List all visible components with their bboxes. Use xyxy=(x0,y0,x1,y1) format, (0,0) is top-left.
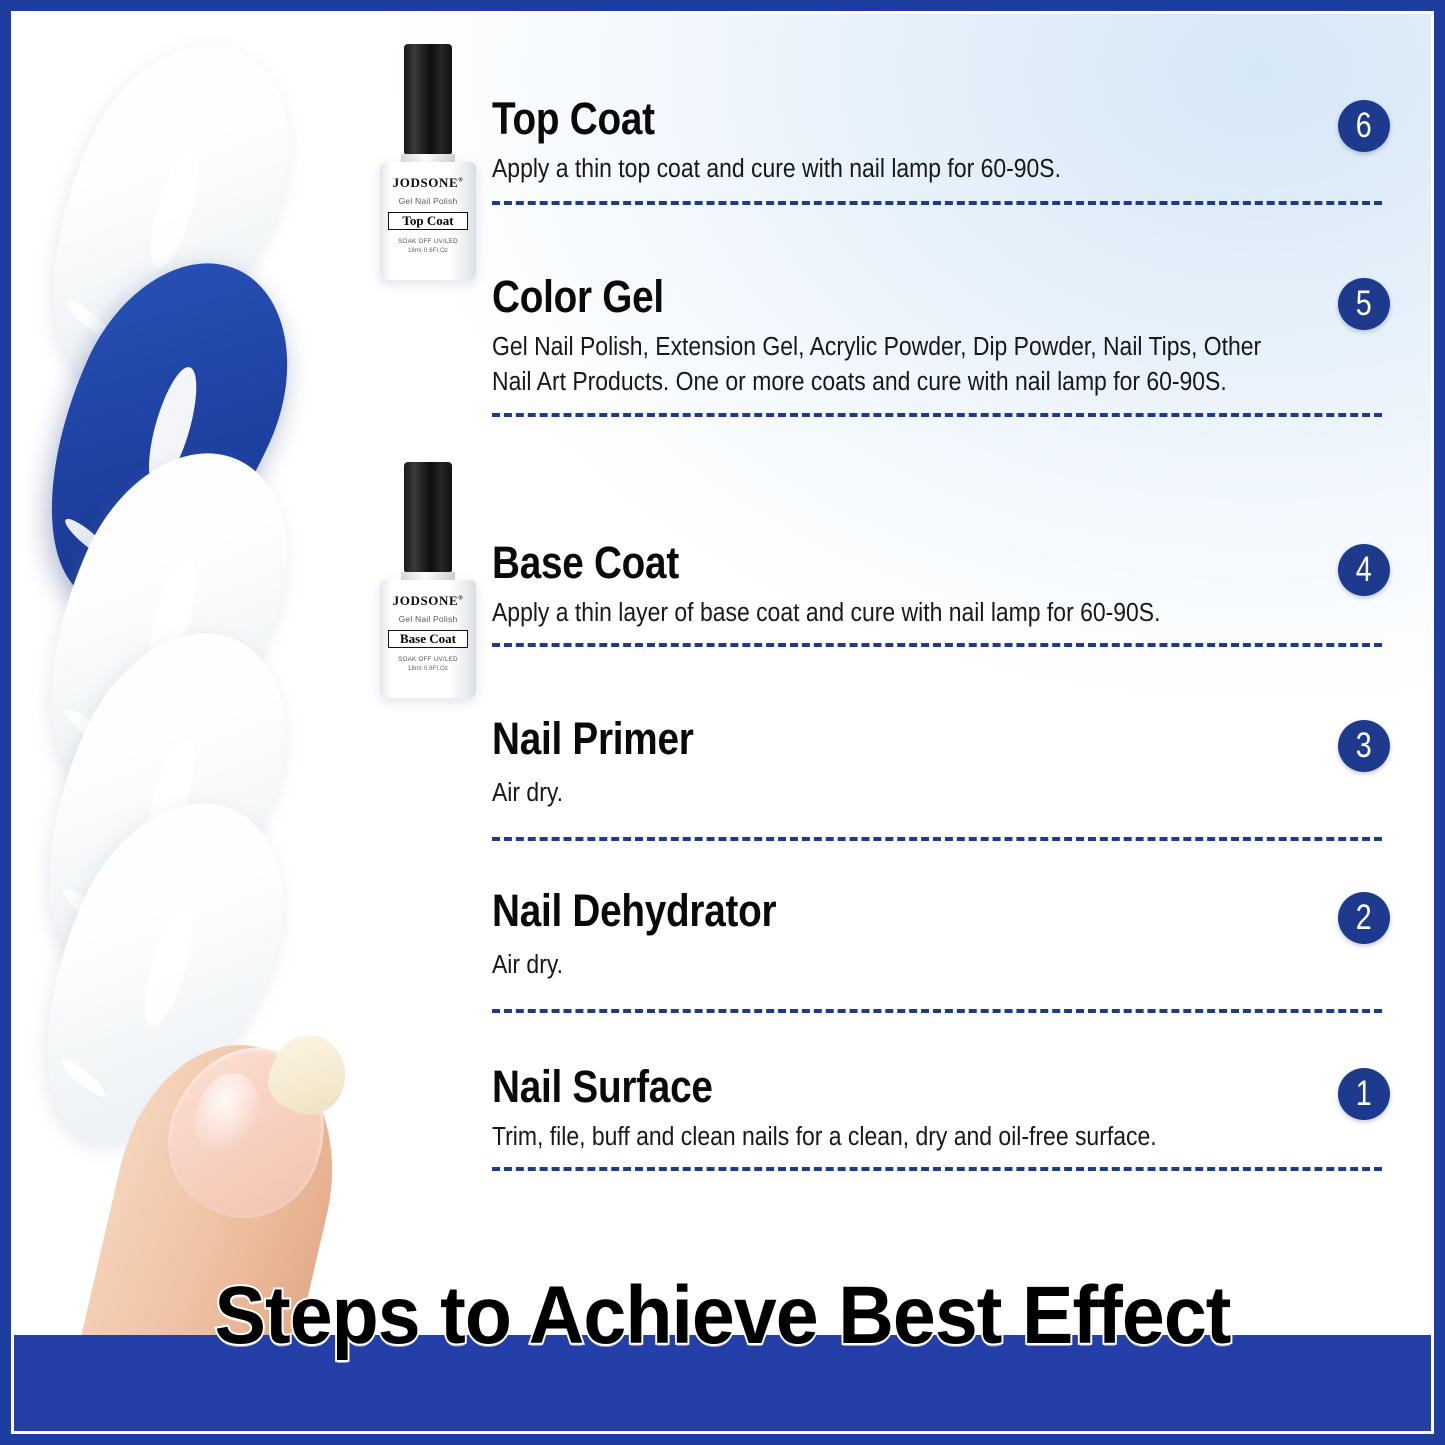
step-description: Air dry. xyxy=(492,948,1381,983)
step-item-5: 5 Color Gel Gel Nail Polish, Extension G… xyxy=(492,274,1382,540)
step-number-badge: 4 xyxy=(1338,544,1390,596)
step-title: Top Coat xyxy=(492,96,1257,142)
banner-title: Steps to Achieve Best Effect xyxy=(43,1275,1401,1357)
bottle-brand-text: JODSONE xyxy=(393,593,459,608)
step-title: Nail Surface xyxy=(492,1064,1257,1110)
bottle-cap xyxy=(404,462,452,572)
nail-shine-highlight xyxy=(135,903,202,1032)
step-divider xyxy=(492,1167,1382,1171)
bottle-brand: JODSONE® xyxy=(380,176,476,189)
poster-canvas: JODSONE® Gel Nail Polish Top Coat SOAK O… xyxy=(0,0,1445,1445)
registered-mark-icon: ® xyxy=(458,596,463,602)
step-title: Nail Dehydrator xyxy=(492,888,1257,934)
step-number-badge: 2 xyxy=(1338,892,1390,944)
step-divider xyxy=(492,201,1382,205)
step-divider xyxy=(492,643,1382,647)
steps-list: 6 Top Coat Apply a thin top coat and cur… xyxy=(492,96,1382,1222)
step-number-badge: 3 xyxy=(1338,720,1390,772)
step-item-4: 4 Base Coat Apply a thin layer of base c… xyxy=(492,540,1382,716)
step-number-badge: 6 xyxy=(1338,100,1390,152)
step-title: Base Coat xyxy=(492,540,1257,586)
bottle-subtitle: Gel Nail Polish xyxy=(380,614,476,624)
step-item-6: 6 Top Coat Apply a thin top coat and cur… xyxy=(492,96,1382,274)
step-description: Trim, file, buff and clean nails for a c… xyxy=(492,1120,1381,1155)
step-divider xyxy=(492,1009,1382,1013)
registered-mark-icon: ® xyxy=(458,178,463,184)
step-description: Air dry. xyxy=(492,776,1381,811)
bottle-body: JODSONE® Gel Nail Polish Top Coat SOAK O… xyxy=(380,162,476,280)
step-description: Gel Nail Polish, Extension Gel, Acrylic … xyxy=(492,330,1269,399)
nail-layer-illustration xyxy=(14,14,414,1431)
bottle-neck xyxy=(401,572,455,580)
bottle-brand-text: JODSONE xyxy=(393,175,459,190)
bottle-variant-label: Top Coat xyxy=(388,212,468,230)
step-item-1: 1 Nail Surface Trim, file, buff and clea… xyxy=(492,1064,1382,1222)
bottle-fine-line-2: 18ml·0.6Fl.Oz xyxy=(380,248,476,254)
bottle-fine-line-1: SOAK OFF UV/LED xyxy=(380,238,476,245)
step-description: Apply a thin layer of base coat and cure… xyxy=(492,596,1381,631)
bottle-brand: JODSONE® xyxy=(380,594,476,607)
bottle-fine-line-1: SOAK OFF UV/LED xyxy=(380,656,476,663)
step-item-2: 2 Nail Dehydrator Air dry. xyxy=(492,888,1382,1064)
step-item-3: 3 Nail Primer Air dry. xyxy=(492,716,1382,888)
bottle-body: JODSONE® Gel Nail Polish Base Coat SOAK … xyxy=(380,580,476,698)
nail-shine-highlight xyxy=(141,145,208,274)
base-coat-bottle: JODSONE® Gel Nail Polish Base Coat SOAK … xyxy=(380,462,476,698)
step-number-badge: 5 xyxy=(1338,278,1390,330)
bottle-cap xyxy=(404,44,452,154)
bottle-neck xyxy=(401,154,455,162)
top-coat-bottle: JODSONE® Gel Nail Polish Top Coat SOAK O… xyxy=(380,44,476,280)
step-title: Color Gel xyxy=(492,274,1257,320)
step-number-badge: 1 xyxy=(1338,1068,1390,1120)
bottle-variant-label: Base Coat xyxy=(388,630,468,648)
step-title: Nail Primer xyxy=(492,716,1257,762)
step-divider xyxy=(492,837,1382,841)
step-divider xyxy=(492,413,1382,417)
bottle-fine-line-2: 18ml·0.6Fl.Oz xyxy=(380,666,476,672)
step-description: Apply a thin top coat and cure with nail… xyxy=(492,152,1381,187)
bottle-subtitle: Gel Nail Polish xyxy=(380,196,476,206)
